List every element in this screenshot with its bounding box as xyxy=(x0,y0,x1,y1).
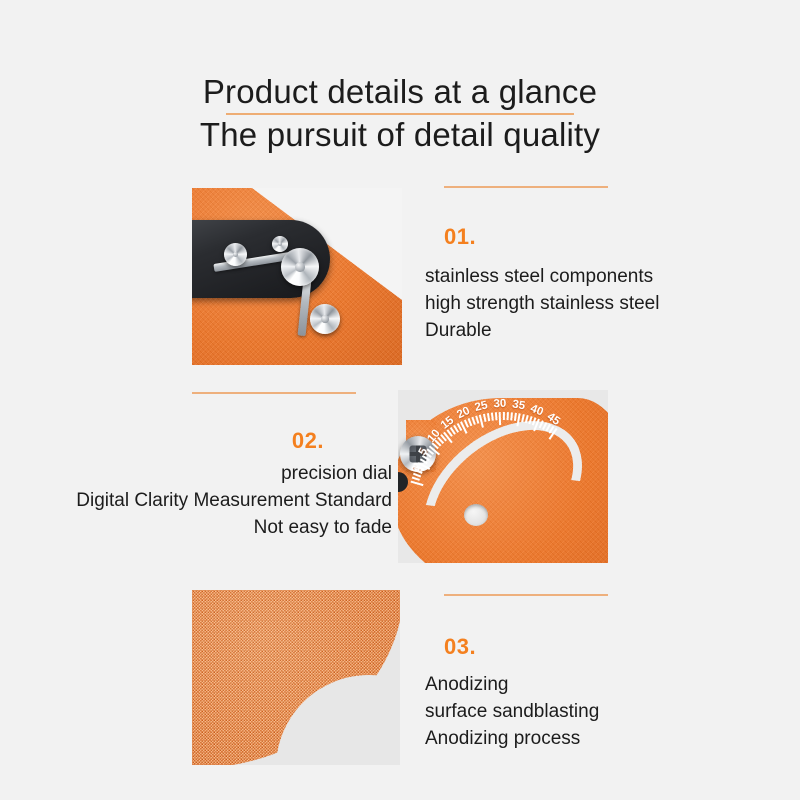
block-01-description: stainless steel components high strength… xyxy=(425,263,659,344)
block-01-line-1: stainless steel components xyxy=(425,263,659,290)
dial-tick-minor xyxy=(521,414,524,422)
steel-knob-large xyxy=(281,248,319,286)
block-03-line-2: surface sandblasting xyxy=(425,698,599,725)
precision-dial-photo: 051015202530354045 xyxy=(398,390,608,563)
page-header: Product details at a glance The pursuit … xyxy=(0,72,800,155)
block-02-description: precision dial Digital Clarity Measureme… xyxy=(10,460,392,541)
anodizing-surface-photo xyxy=(192,590,400,765)
dial-tick-minor xyxy=(487,413,490,421)
dial-scale-label: 25 xyxy=(474,399,489,414)
block-03-number: 03. xyxy=(444,634,476,660)
dial-tick-minor xyxy=(507,412,509,420)
dial-tick-minor xyxy=(503,412,505,420)
page-title-line-1: Product details at a glance xyxy=(0,72,800,112)
block-03-description: Anodizing surface sandblasting Anodizing… xyxy=(425,671,599,752)
dial-tick-minor xyxy=(491,413,493,421)
dial-graduated-scale: 051015202530354045 xyxy=(398,390,608,563)
page-title-line-2: The pursuit of detail quality xyxy=(0,115,800,155)
stainless-steel-components-photo xyxy=(192,188,402,365)
block-01-number: 01. xyxy=(444,224,476,250)
block-02-line-2: Digital Clarity Measurement Standard xyxy=(10,487,392,514)
block-03-accent-rule xyxy=(444,594,608,596)
block-02-line-1: precision dial xyxy=(10,460,392,487)
block-02-line-3: Not easy to fade xyxy=(10,514,392,541)
dial-scale-label: 30 xyxy=(493,398,506,410)
dial-tick-major xyxy=(410,481,423,487)
block-02-number: 02. xyxy=(192,428,324,454)
dial-tick-minor xyxy=(510,412,512,420)
block-01-line-2: high strength stainless steel xyxy=(425,290,659,317)
steel-knob-medium xyxy=(310,304,340,334)
block-03-line-3: Anodizing process xyxy=(425,725,599,752)
steel-knob-tiny xyxy=(272,236,288,252)
dial-scale-label: 35 xyxy=(511,398,526,412)
dial-tick-minor xyxy=(514,413,517,421)
dial-tick-minor xyxy=(471,417,475,425)
dial-tick-major xyxy=(516,413,520,426)
dial-tick-major xyxy=(499,412,501,425)
dial-tick-minor xyxy=(495,412,497,420)
block-01-accent-rule xyxy=(444,186,608,188)
dial-tick-minor xyxy=(483,414,486,422)
steel-knob-small xyxy=(224,243,247,266)
block-02-accent-rule xyxy=(192,392,356,394)
block-03-line-1: Anodizing xyxy=(425,671,599,698)
block-01-line-3: Durable xyxy=(425,317,659,344)
